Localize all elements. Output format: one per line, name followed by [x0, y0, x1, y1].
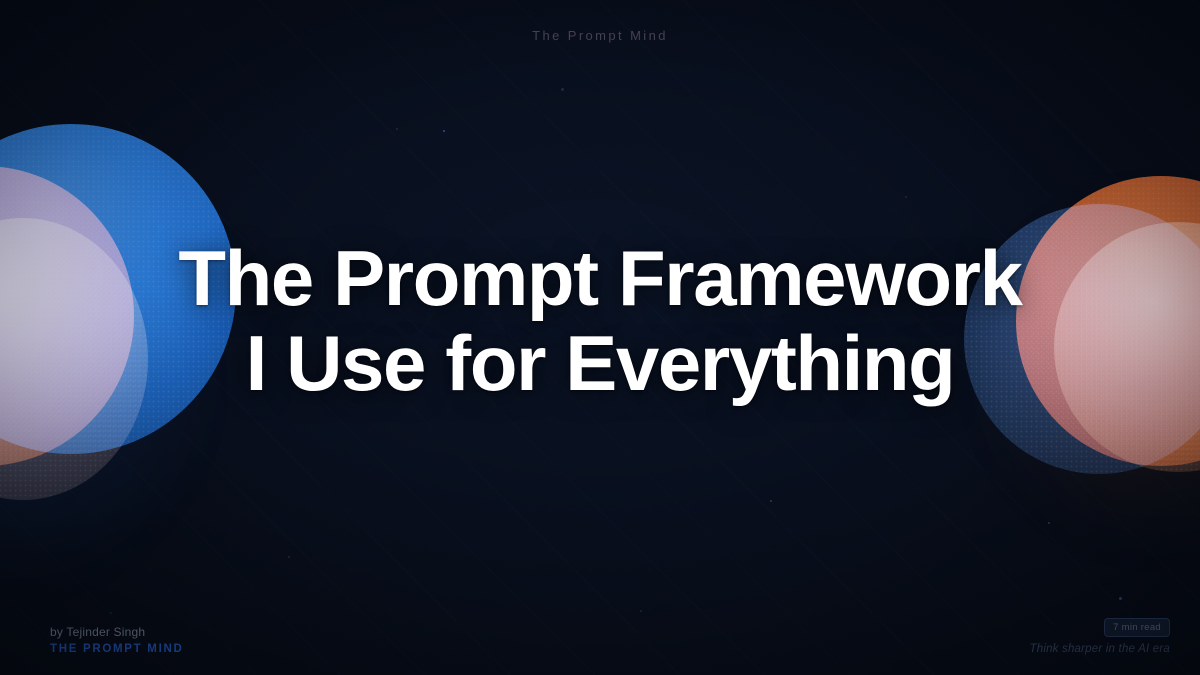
particle-dot	[1119, 597, 1122, 600]
particle-dot	[770, 500, 772, 502]
title-line-2: I Use for Everything	[60, 325, 1140, 402]
read-time-badge: 7 min read	[1104, 618, 1170, 637]
footer-meta-block: 7 min read Think sharper in the AI era	[1030, 617, 1171, 655]
footer-author-block: by Tejinder Singh THE PROMPT MIND	[50, 625, 183, 655]
particle-dot	[288, 556, 290, 558]
particle-dot	[110, 612, 112, 614]
tagline-text: Think sharper in the AI era	[1030, 643, 1171, 655]
hero-title-container: The Prompt Framework I Use for Everythin…	[0, 240, 1200, 402]
brand-label-bottom: THE PROMPT MIND	[50, 643, 183, 655]
page-title: The Prompt Framework I Use for Everythin…	[60, 240, 1140, 402]
brand-label-top: The Prompt Mind	[0, 28, 1200, 43]
particle-dot	[561, 88, 564, 91]
particle-dot	[905, 196, 907, 198]
hero-banner: The Prompt Mind The Prompt Framework I U…	[0, 0, 1200, 675]
particle-dot	[640, 610, 642, 612]
particle-dot	[443, 130, 445, 132]
title-line-1: The Prompt Framework	[60, 240, 1140, 317]
author-byline: by Tejinder Singh	[50, 625, 183, 639]
particle-dot	[396, 128, 398, 130]
particle-dot	[1048, 522, 1050, 524]
